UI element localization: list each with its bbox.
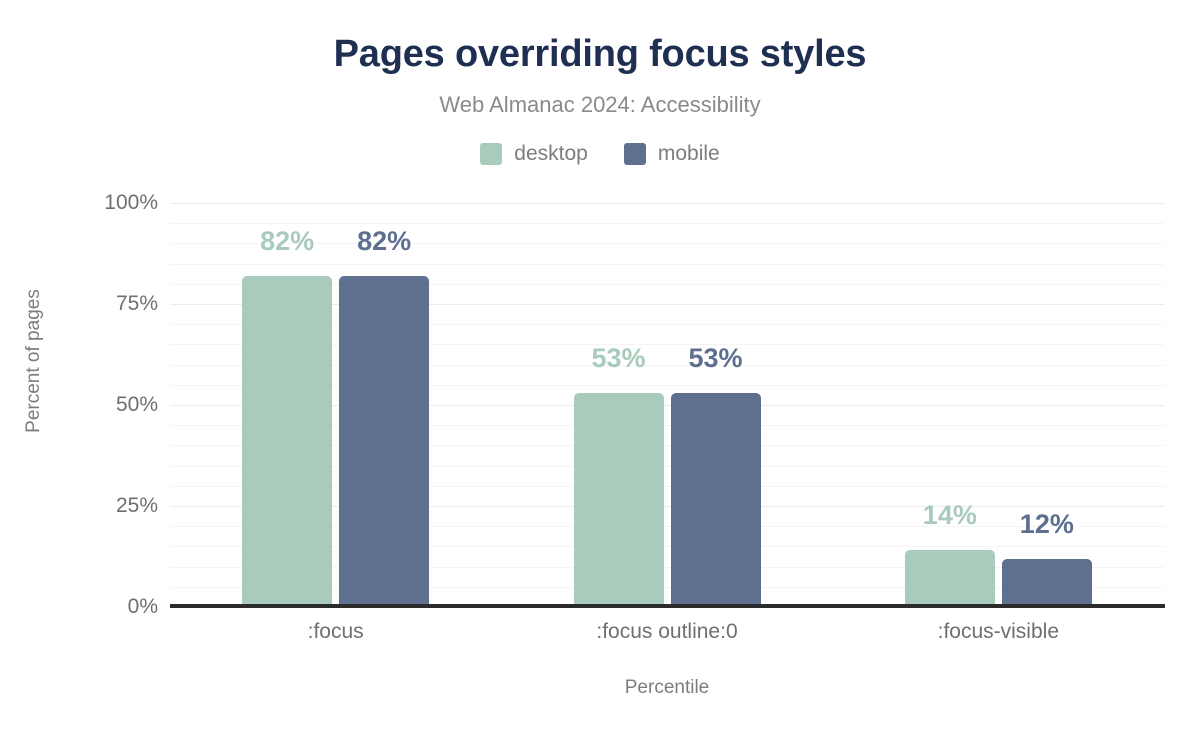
x-axis-ticks: :focus:focus outline:0:focus-visible xyxy=(170,618,1164,648)
bar-group: 14%12% xyxy=(905,203,1092,607)
bar-value-label: 82% xyxy=(339,226,429,256)
y-tick-label: 75% xyxy=(78,292,158,316)
legend-item-mobile[interactable]: mobile xyxy=(624,142,720,166)
y-axis-title: Percent of pages xyxy=(23,261,45,461)
chart-title: Pages overriding focus styles xyxy=(0,30,1200,78)
y-tick-label: 50% xyxy=(78,393,158,417)
bar-value-label: 14% xyxy=(905,500,995,530)
chart-subtitle: Web Almanac 2024: Accessibility xyxy=(0,90,1200,120)
bar-mobile-1[interactable] xyxy=(671,393,761,607)
x-tick-label: :focus-visible xyxy=(848,618,1148,646)
bar-value-label: 82% xyxy=(242,226,332,256)
x-axis-title: Percentile xyxy=(170,676,1164,700)
legend-label-mobile: mobile xyxy=(658,142,720,166)
x-axis-baseline xyxy=(170,604,1165,608)
bar-desktop-1[interactable] xyxy=(574,393,664,607)
y-tick-label: 25% xyxy=(78,494,158,518)
bar-group: 53%53% xyxy=(574,203,761,607)
x-tick-label: :focus outline:0 xyxy=(517,618,817,646)
chart-legend: desktop mobile xyxy=(0,142,1200,166)
bar-mobile-0[interactable] xyxy=(339,276,429,607)
bar-desktop-0[interactable] xyxy=(242,276,332,607)
plot-area: 82%82%53%53%14%12% xyxy=(170,203,1164,607)
bar-value-label: 53% xyxy=(671,343,761,373)
bar-value-label: 53% xyxy=(574,343,664,373)
legend-swatch-mobile xyxy=(624,143,646,165)
bars-layer: 82%82%53%53%14%12% xyxy=(170,203,1164,607)
bar-value-label: 12% xyxy=(1002,509,1092,539)
y-tick-label: 0% xyxy=(78,595,158,619)
bar-chart: Pages overriding focus styles Web Almana… xyxy=(0,0,1200,742)
legend-swatch-desktop xyxy=(480,143,502,165)
y-axis-ticks: 0%25%50%75%100% xyxy=(70,203,158,607)
bar-mobile-2[interactable] xyxy=(1002,559,1092,607)
bar-desktop-2[interactable] xyxy=(905,550,995,607)
bar-group: 82%82% xyxy=(242,203,429,607)
y-tick-label: 100% xyxy=(78,191,158,215)
legend-item-desktop[interactable]: desktop xyxy=(480,142,588,166)
legend-label-desktop: desktop xyxy=(514,142,588,166)
x-tick-label: :focus xyxy=(186,618,486,646)
